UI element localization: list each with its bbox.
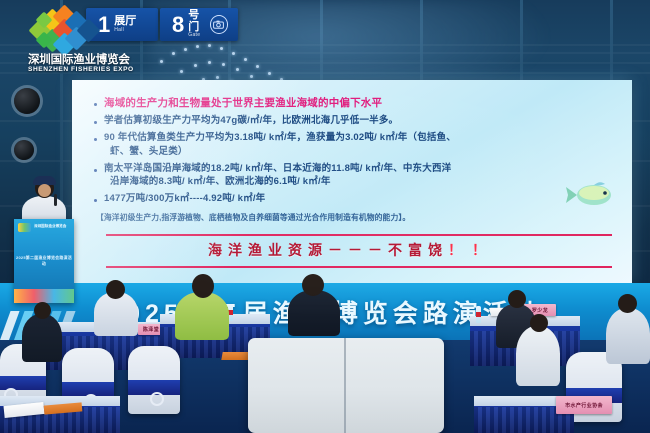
slide-bullet-text: 南太平洋岛国沿岸海域的18.2吨/ k㎡/年、日本近海的11.8吨/ k㎡/年、… — [104, 162, 451, 176]
chair-sash — [0, 376, 46, 390]
name-placard-text: 市水产行业协会 — [565, 402, 603, 409]
audience-chair — [128, 346, 180, 414]
attendee-head — [530, 314, 548, 332]
attendee-body — [516, 326, 560, 386]
slide-bullet-subtext: 沿岸海域的8.3吨/ k㎡/年、欧洲北海的6.1吨/ k㎡/年 — [104, 175, 451, 189]
podium-caption: 2025第二届渔业博览会路演活动 — [14, 255, 74, 267]
attendee-head — [106, 280, 125, 299]
projection-screen: 海域的生产力和生物量处于世界主要渔业海域的中偏下水平 学者估算初级生产力平均为4… — [72, 80, 632, 283]
wall-fixture — [14, 88, 40, 114]
slide-bullet-text: 海域的生产力和生物量处于世界主要渔业海域的中偏下水平 — [104, 96, 382, 111]
expo-logo: 深圳国际渔业博览会 SHENZHEN FISHERIES EXPO — [28, 8, 120, 74]
attendee-head — [34, 302, 51, 319]
slide-divider-top — [106, 234, 612, 236]
attendee-head — [508, 290, 526, 308]
bullet-dot-icon — [94, 103, 97, 106]
attendee-body — [606, 308, 650, 364]
podium-logo-icon — [18, 223, 31, 232]
expo-name-en: SHENZHEN FISHERIES EXPO — [28, 66, 146, 75]
slide-bullet: 学者估算初级生产力平均为47g碳/㎡/年，比欧洲北海几乎低一半多。 — [90, 114, 622, 128]
name-placard[interactable]: 市水产行业协会 — [556, 396, 612, 414]
bullet-dot-icon — [94, 121, 97, 124]
microphone-icon — [54, 194, 57, 206]
speaker-face — [38, 184, 51, 197]
speaker-podium: 深圳国际渔业博览会 2025第二届渔业博览会路演活动 — [14, 219, 74, 303]
slide-bullet: 90 年代估算鱼类生产力平均为3.18吨/ k㎡/年，渔获量为3.02吨/ k㎡… — [90, 131, 622, 159]
slide-headline-text: 海洋渔业资源－－－不富饶 — [208, 242, 448, 258]
expo-logo-mark — [32, 8, 108, 54]
fish-illustration — [564, 180, 618, 210]
expo-name-cn: 深圳国际渔业博览会 — [28, 54, 146, 66]
slide-headline-exclaim: ！！ — [448, 242, 496, 258]
camera-icon — [210, 15, 228, 34]
bullet-dot-icon — [94, 199, 97, 202]
attendee-body — [22, 314, 62, 362]
bullet-dot-icon — [94, 169, 97, 172]
podium-brand: 深圳国际渔业博览会 — [34, 224, 66, 229]
gate-sign-number: 8 — [172, 14, 184, 36]
gate-sign-label-en: Gate — [188, 33, 209, 39]
bullet-dot-icon — [94, 138, 97, 141]
attendee-body — [288, 290, 340, 336]
name-placard-text: 陈泽堂 — [143, 326, 159, 333]
slide-bullet-text: 学者估算初级生产力平均为47g碳/㎡/年，比欧洲北海几乎低一半多。 — [104, 114, 398, 128]
slide-bullet-subtext: 虾、蟹、头足类） — [104, 145, 456, 159]
audience-foreground: 陈泽堂 罗少龙 — [0, 300, 650, 433]
slide-headline: 海洋渔业资源－－－不富饶！！ — [72, 240, 632, 260]
expo-logo-name: 深圳国际渔业博览会 SHENZHEN FISHERIES EXPO — [28, 54, 146, 75]
slide-bullet: 海域的生产力和生物量处于世界主要渔业海域的中偏下水平 — [90, 96, 622, 111]
sofa-seam — [344, 338, 346, 433]
slide-divider-bottom — [106, 266, 612, 268]
slide-bullet-text: 1477万吨/300万k㎡----4.92吨/ k㎡/年 — [104, 192, 265, 206]
presentation-slide: 海域的生产力和生物量处于世界主要渔业海域的中偏下水平 学者估算初级生产力平均为4… — [72, 80, 632, 283]
chair-sash-ring — [150, 392, 164, 406]
water-bottle — [476, 306, 481, 323]
stage-sofa — [248, 338, 444, 433]
slide-bullet: 南太平洋岛国沿岸海域的18.2吨/ k㎡/年、日本近海的11.8吨/ k㎡/年、… — [90, 162, 622, 190]
gate-sign: 8 号门 Gate — [160, 8, 238, 41]
conference-photo: 1 展厅 Hall 8 号门 Gate — [0, 0, 650, 433]
attendee-head — [302, 274, 324, 296]
wall-fixture — [14, 140, 34, 160]
slide-note: 【海洋初级生产力,指浮游植物、底栖植物及自养细菌等通过光合作用制造有机物的能力】… — [96, 212, 618, 223]
attendee-head — [192, 274, 214, 298]
attendee-head — [618, 294, 637, 313]
slide-bullet: 1477万吨/300万k㎡----4.92吨/ k㎡/年 — [90, 192, 622, 206]
name-placard-text: 罗少龙 — [532, 307, 548, 314]
attendee-body — [175, 292, 229, 340]
slide-bullet-text: 90 年代估算鱼类生产力平均为3.18吨/ k㎡/年，渔获量为3.02吨/ k㎡… — [104, 131, 456, 145]
gate-sign-label-cn: 号门 — [188, 10, 209, 33]
